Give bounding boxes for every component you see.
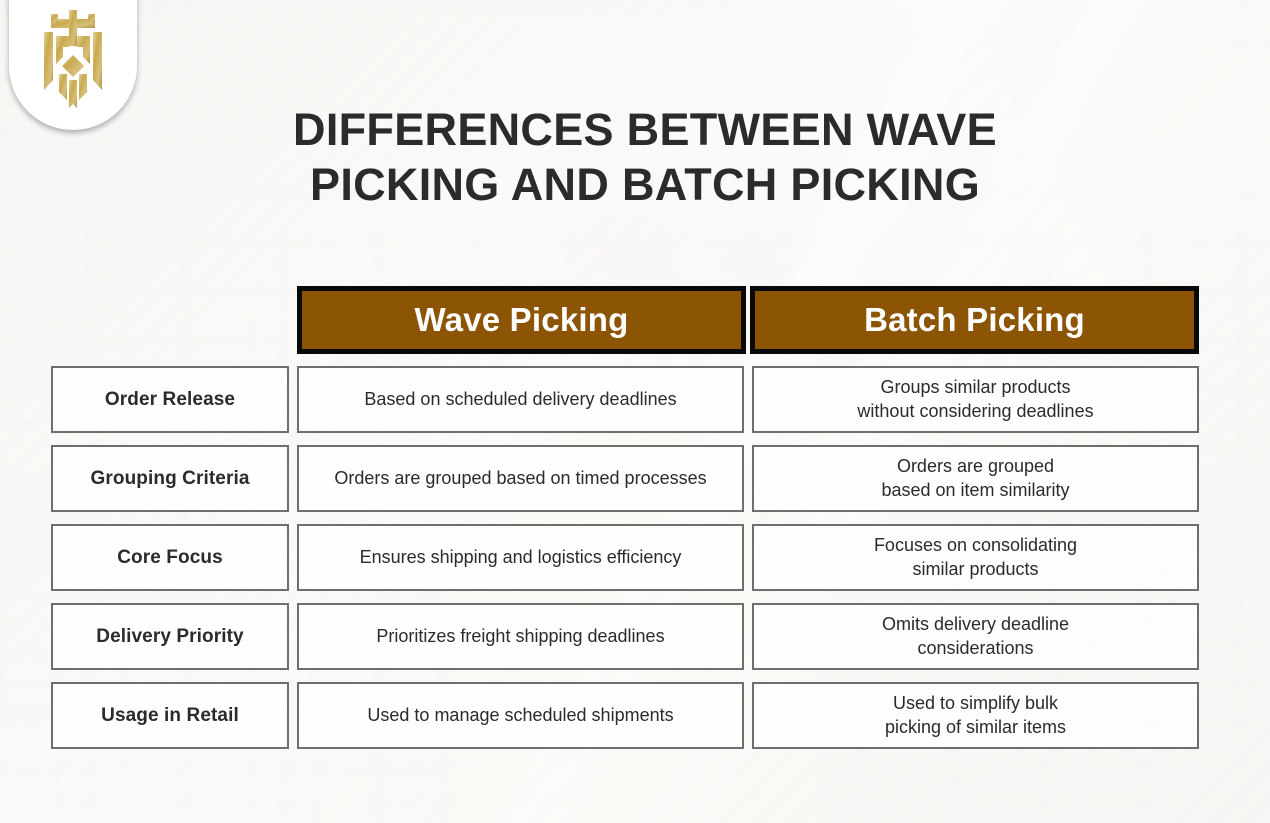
row-label-usage-in-retail: Usage in Retail xyxy=(51,682,289,749)
cell-wave-grouping-criteria: Orders are grouped based on timed proces… xyxy=(297,445,744,512)
row-label-grouping-criteria: Grouping Criteria xyxy=(51,445,289,512)
row-label-core-focus: Core Focus xyxy=(51,524,289,591)
column-header-wave-picking: Wave Picking xyxy=(297,286,746,354)
cell-text: without considering deadlines xyxy=(857,400,1093,423)
cell-batch-usage-in-retail: Used to simplify bulk picking of similar… xyxy=(752,682,1199,749)
comparison-table: Wave Picking Batch Picking Order Release… xyxy=(51,286,1199,761)
cell-wave-usage-in-retail: Used to manage scheduled shipments xyxy=(297,682,744,749)
cell-text: Ensures shipping and logistics efficienc… xyxy=(360,546,682,569)
table-row: Usage in Retail Used to manage scheduled… xyxy=(51,682,1199,749)
table-row: Core Focus Ensures shipping and logistic… xyxy=(51,524,1199,591)
cell-wave-core-focus: Ensures shipping and logistics efficienc… xyxy=(297,524,744,591)
cell-text: similar products xyxy=(874,558,1077,581)
cell-text: Orders are grouped xyxy=(881,455,1069,478)
cell-text: Orders are grouped based on timed proces… xyxy=(334,467,706,490)
cell-wave-order-release: Based on scheduled delivery deadlines xyxy=(297,366,744,433)
cell-wave-delivery-priority: Prioritizes freight shipping deadlines xyxy=(297,603,744,670)
cell-text: Used to manage scheduled shipments xyxy=(367,704,673,727)
page-title-line-1: DIFFERENCES BETWEEN WAVE xyxy=(150,103,1140,158)
column-header-batch-picking: Batch Picking xyxy=(750,286,1199,354)
row-label-delivery-priority: Delivery Priority xyxy=(51,603,289,670)
table-row: Delivery Priority Prioritizes freight sh… xyxy=(51,603,1199,670)
cell-text: based on item similarity xyxy=(881,479,1069,502)
cell-batch-core-focus: Focuses on consolidating similar product… xyxy=(752,524,1199,591)
table-header-row: Wave Picking Batch Picking xyxy=(297,286,1199,354)
cell-text: Based on scheduled delivery deadlines xyxy=(364,388,676,411)
cell-text: considerations xyxy=(882,637,1069,660)
cell-text: Omits delivery deadline xyxy=(882,613,1069,636)
cell-text: Groups similar products xyxy=(857,376,1093,399)
page-title: DIFFERENCES BETWEEN WAVE PICKING AND BAT… xyxy=(150,103,1140,213)
cell-batch-grouping-criteria: Orders are grouped based on item similar… xyxy=(752,445,1199,512)
cell-batch-order-release: Groups similar products without consider… xyxy=(752,366,1199,433)
cell-text: Prioritizes freight shipping deadlines xyxy=(376,625,664,648)
table-row: Grouping Criteria Orders are grouped bas… xyxy=(51,445,1199,512)
cell-text: Used to simplify bulk xyxy=(885,692,1066,715)
logo-badge xyxy=(9,0,137,130)
cell-text: Focuses on consolidating xyxy=(874,534,1077,557)
cell-batch-delivery-priority: Omits delivery deadline considerations xyxy=(752,603,1199,670)
page-title-line-2: PICKING AND BATCH PICKING xyxy=(150,158,1140,213)
row-label-order-release: Order Release xyxy=(51,366,289,433)
gold-crest-emblem-icon xyxy=(34,10,112,108)
table-row: Order Release Based on scheduled deliver… xyxy=(51,366,1199,433)
cell-text: picking of similar items xyxy=(885,716,1066,739)
